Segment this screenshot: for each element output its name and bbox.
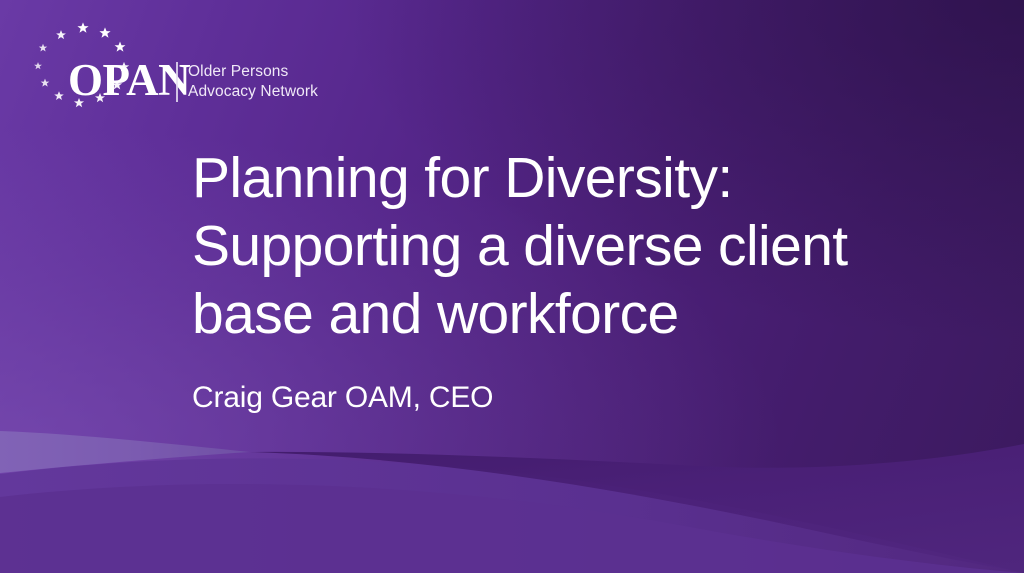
slide-title: Planning for Diversity: Supporting a div… xyxy=(192,144,952,348)
slide-title-line-3: base and workforce xyxy=(192,280,952,348)
slide-title-line-2: Supporting a diverse client xyxy=(192,212,952,280)
logo-wordmark: OPAN xyxy=(68,58,190,103)
presenter-byline: Craig Gear OAM, CEO xyxy=(192,379,493,417)
title-slide: OPAN Older Persons Advocacy Network Plan… xyxy=(0,0,1024,573)
logo-divider xyxy=(176,62,178,102)
logo-tagline-line2: Advocacy Network xyxy=(188,82,318,102)
logo-tagline: Older Persons Advocacy Network xyxy=(188,62,318,102)
slide-title-line-1: Planning for Diversity: xyxy=(192,144,952,212)
logo-tagline-line1: Older Persons xyxy=(188,62,318,82)
opan-logo: OPAN Older Persons Advocacy Network xyxy=(20,22,310,110)
